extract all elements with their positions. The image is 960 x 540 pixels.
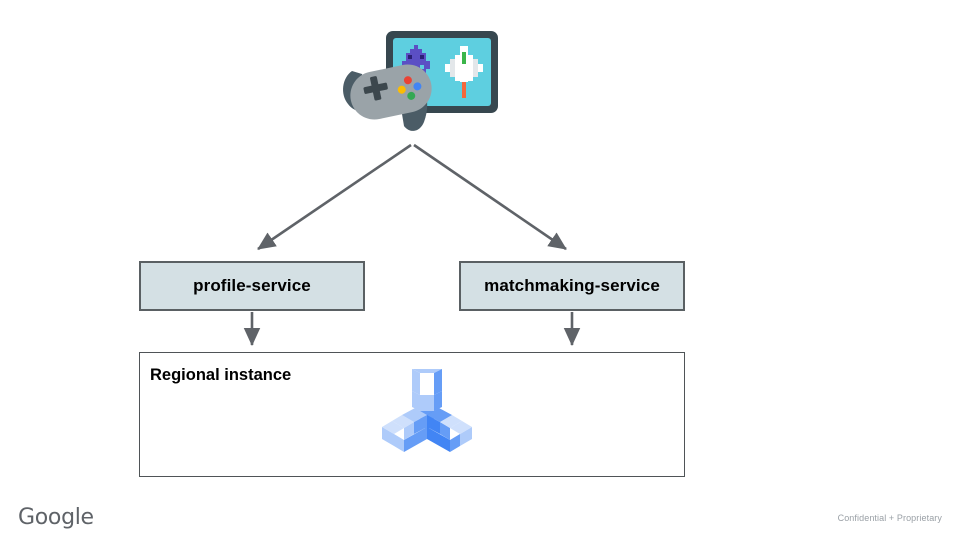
confidential-notice: Confidential + Proprietary (838, 513, 942, 523)
regional-instance-label: Regional instance (150, 366, 291, 385)
node-profile-service-label: profile-service (193, 276, 311, 296)
node-profile-service[interactable]: profile-service (139, 261, 365, 311)
edge-client-to-profile (258, 145, 411, 249)
game-controller (343, 60, 436, 131)
google-wordmark: Google (18, 505, 94, 530)
node-matchmaking-service[interactable]: matchmaking-service (459, 261, 685, 311)
compute-engine-icon (368, 367, 486, 467)
edge-client-to-matchmaking (414, 145, 566, 249)
node-regional-instance[interactable]: Regional instance (139, 352, 685, 477)
slide-canvas: profile-service matchmaking-service Regi… (0, 0, 960, 540)
game-controller-screen-icon (338, 28, 503, 146)
node-matchmaking-service-label: matchmaking-service (484, 276, 660, 296)
